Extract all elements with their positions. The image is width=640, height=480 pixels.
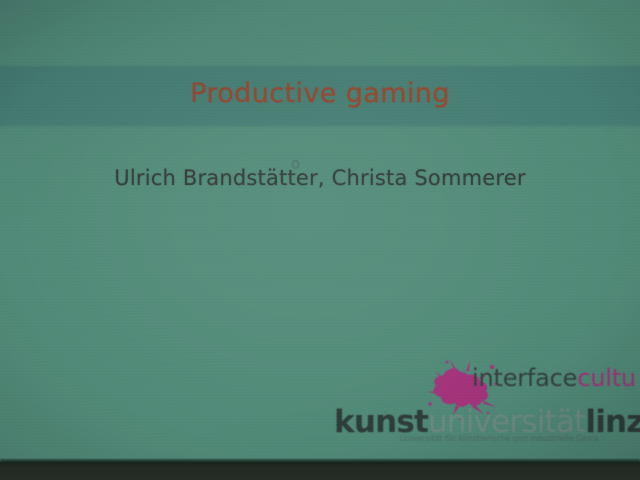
dust-speck-artifact	[292, 160, 299, 169]
slide-authors: Ulrich Brandstätter, Christa Sommerer	[0, 166, 640, 190]
logo-tagline: Universität für künstlerische und indust…	[400, 434, 599, 443]
projection-screen: Productive gaming Ulrich Brandstätter, C…	[0, 0, 640, 462]
institution-logo: interfacecultu kunstuniversitätlinz Univ…	[330, 352, 640, 452]
dark-area-below-screen	[0, 462, 640, 480]
interface-culture-wordmark: interfacecultu	[472, 364, 636, 392]
projected-slide-photo: Productive gaming Ulrich Brandstätter, C…	[0, 0, 640, 480]
wordmark-culture: cultu	[577, 364, 636, 392]
wordmark-interface: interface	[472, 364, 577, 392]
slide-title: Productive gaming	[0, 78, 640, 109]
